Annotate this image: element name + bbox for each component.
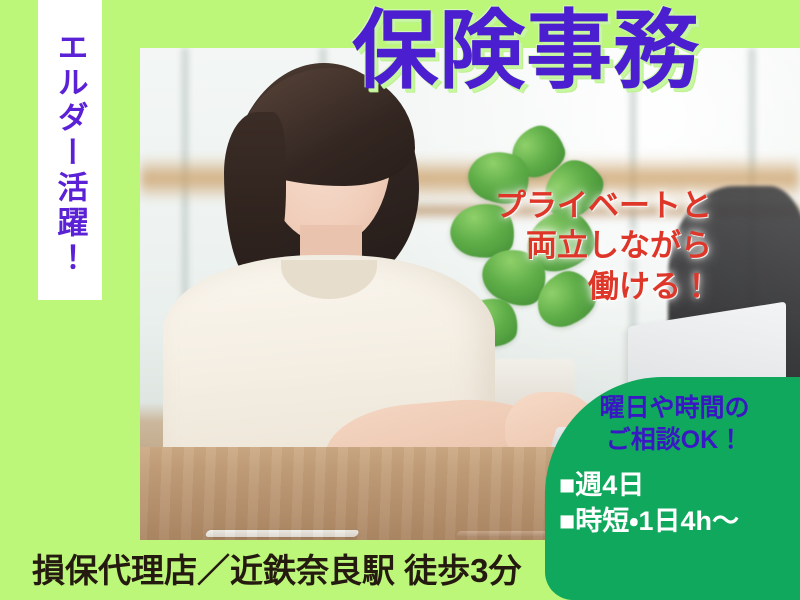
conditions-panel: 曜日や時間の ご相談OK！ ■週4日 ■時短・1日4h〜	[545, 377, 800, 600]
conditions-heading-line-2: ご相談OK！	[559, 425, 790, 457]
location-caption: 損保代理店／近鉄奈良駅 徒歩3分	[32, 544, 522, 592]
elder-badge: エルダー活躍！	[38, 0, 102, 300]
job-ad-banner: エルダー活躍！ 保険事務 プライベートと 両立しながら 働ける！ 曜日や時間の …	[0, 0, 800, 600]
conditions-heading-line-1: 曜日や時間の	[559, 393, 790, 425]
conditions-list: ■週4日 ■時短・1日4h〜	[559, 468, 790, 539]
elder-badge-label: エルダー活躍！	[55, 25, 86, 276]
hair-side	[224, 112, 286, 279]
catch-copy-line-3: 働ける！	[495, 267, 712, 307]
list-item: ■時短・1日4h〜	[559, 504, 790, 540]
catch-copy: プライベートと 両立しながら 働ける！	[495, 186, 712, 307]
list-item: ■週4日	[559, 468, 790, 504]
tablet-device	[204, 530, 359, 537]
catch-copy-line-1: プライベートと	[495, 186, 712, 226]
catch-copy-line-2: 両立しながら	[495, 226, 712, 266]
conditions-heading: 曜日や時間の ご相談OK！	[559, 393, 790, 456]
page-title: 保険事務	[352, 8, 700, 96]
